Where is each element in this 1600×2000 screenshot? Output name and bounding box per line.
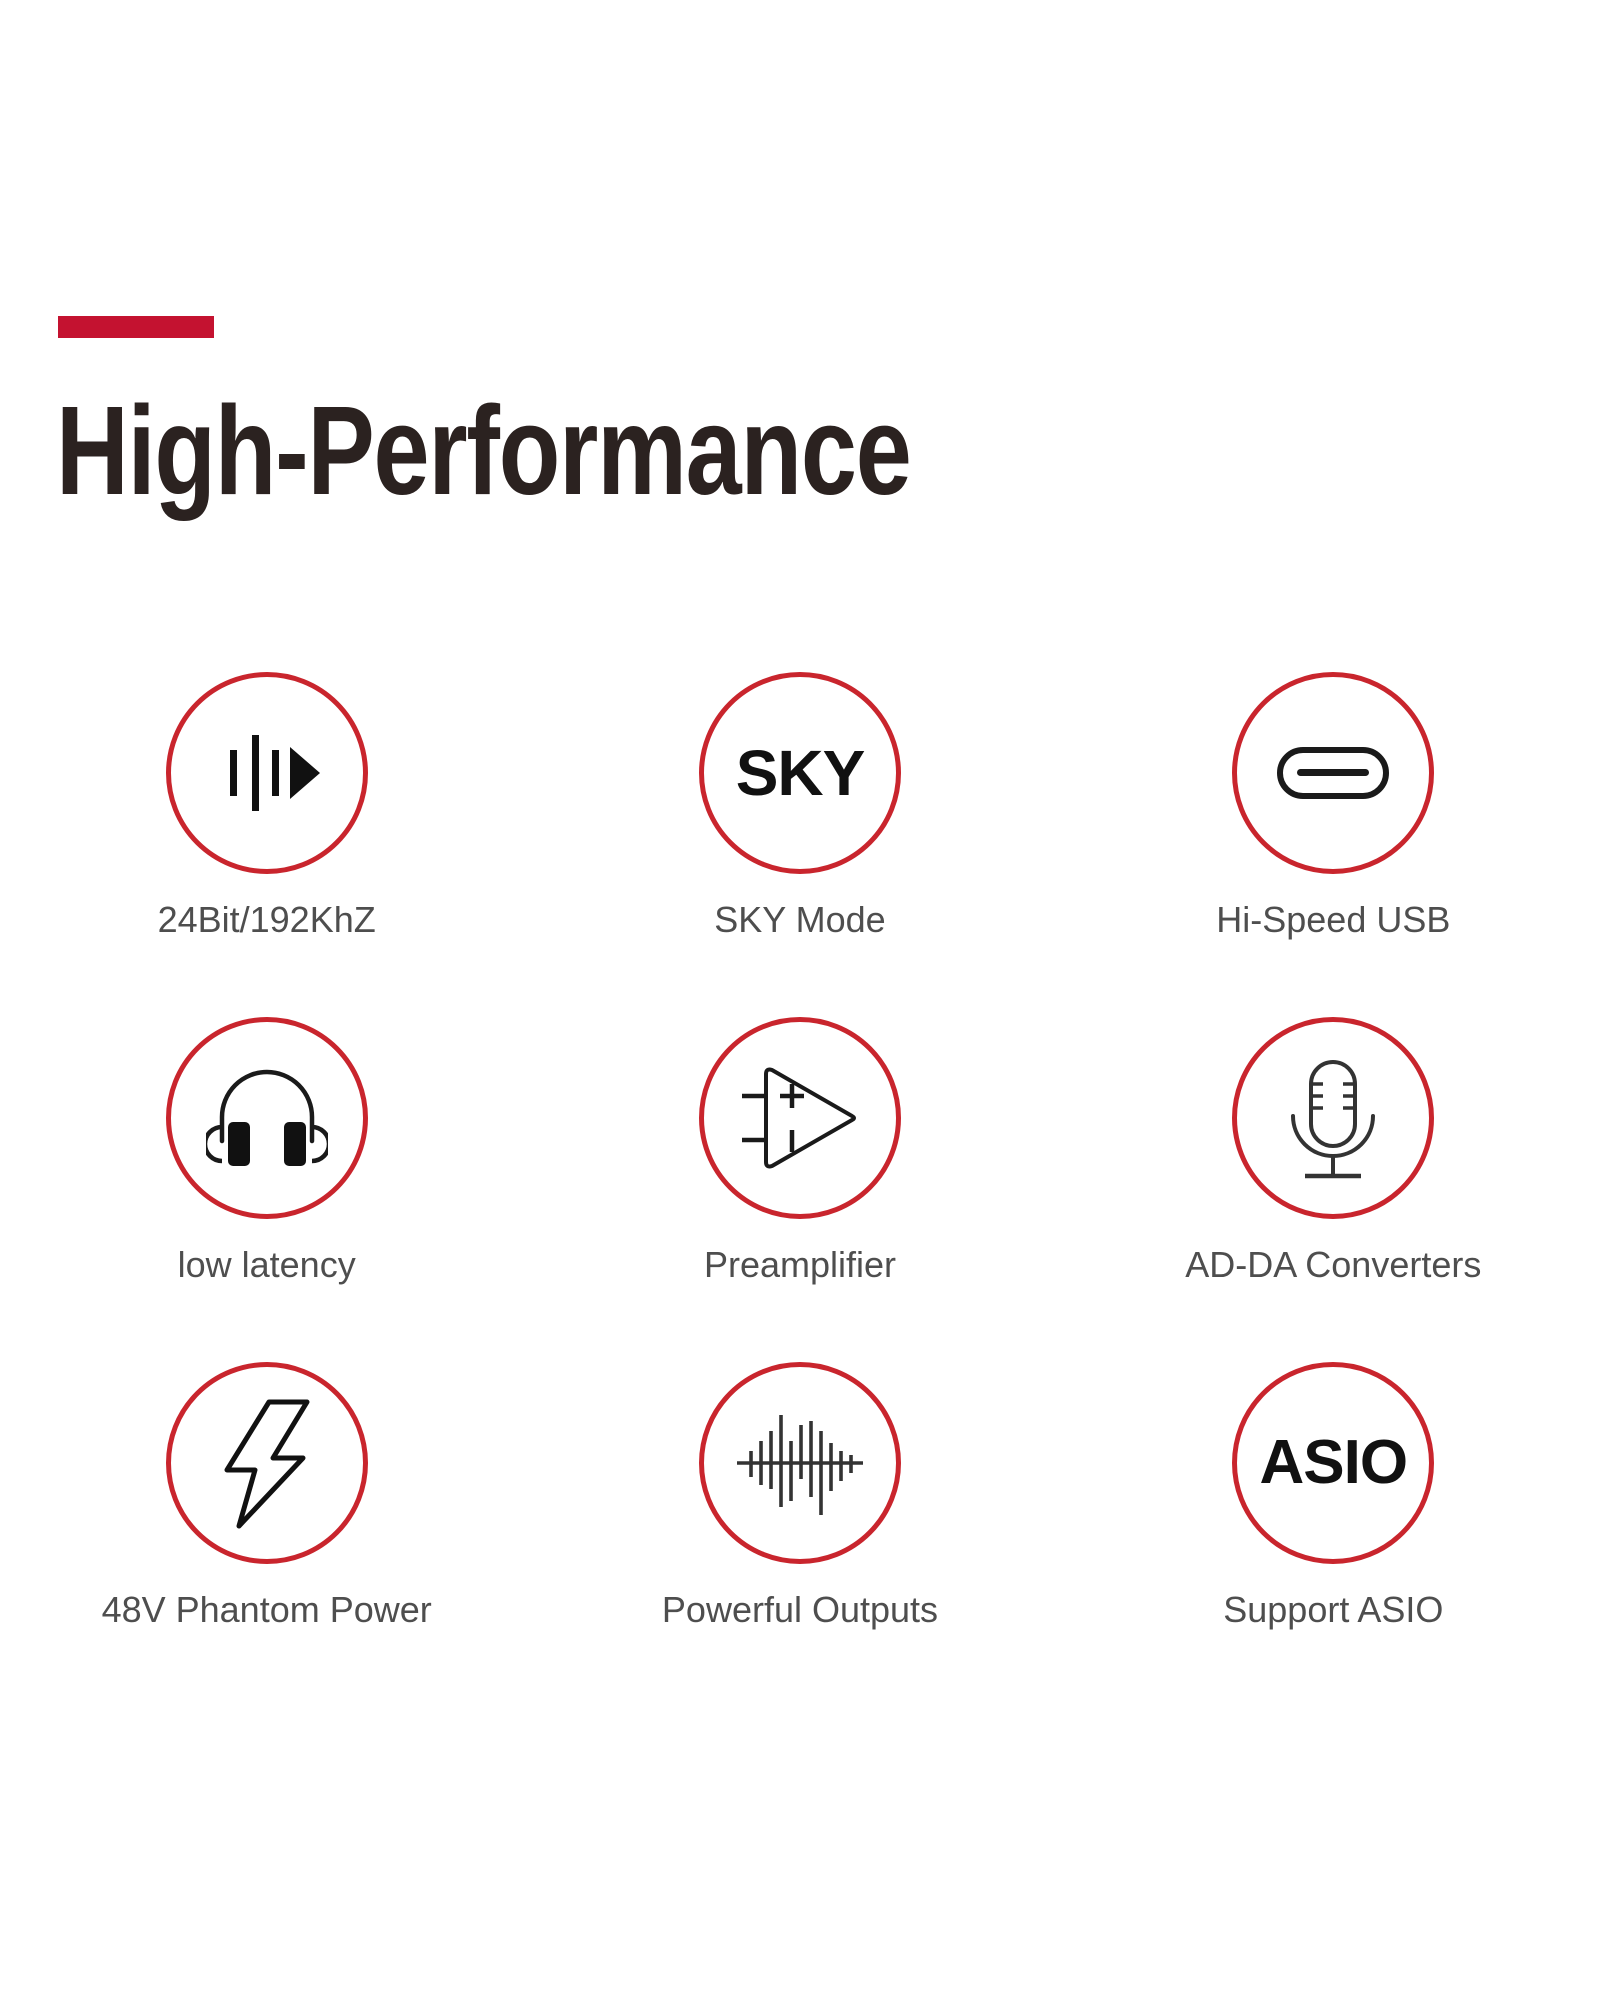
asio-text-glyph: ASIO [1260, 1432, 1408, 1494]
headphones-icon [166, 1017, 368, 1219]
feature-label: low latency [178, 1245, 356, 1285]
page-title: High-Performance [56, 388, 911, 514]
audio-bitrate-icon [166, 672, 368, 874]
lightning-bolt-icon [166, 1362, 368, 1564]
sky-text-glyph: SKY [736, 741, 865, 805]
asio-text-icon: ASIO [1232, 1362, 1434, 1564]
sky-text-icon: SKY [699, 672, 901, 874]
opamp-triangle-icon [699, 1017, 901, 1219]
feature-item-sky-mode: SKY SKY Mode [533, 672, 1066, 1017]
feature-label: SKY Mode [714, 900, 885, 940]
features-grid: 24Bit/192KhZ SKY SKY Mode Hi-Speed USB [0, 672, 1600, 1707]
audio-waveform-icon [699, 1362, 901, 1564]
feature-highlights-page: High-Performance 24Bit/192KhZ SKY SKY Mo… [0, 0, 1600, 2000]
feature-item-bitrate: 24Bit/192KhZ [0, 672, 533, 1017]
feature-item-preamplifier: Preamplifier [533, 1017, 1066, 1362]
feature-label: Powerful Outputs [662, 1590, 938, 1630]
usb-c-port-icon [1232, 672, 1434, 874]
feature-label: AD-DA Converters [1185, 1245, 1481, 1285]
feature-label: 48V Phantom Power [102, 1590, 432, 1630]
feature-item-low-latency: low latency [0, 1017, 533, 1362]
feature-label: Support ASIO [1223, 1590, 1443, 1630]
feature-item-outputs: Powerful Outputs [533, 1362, 1066, 1707]
feature-item-phantom-power: 48V Phantom Power [0, 1362, 533, 1707]
feature-label: Hi-Speed USB [1216, 900, 1450, 940]
feature-label: Preamplifier [704, 1245, 896, 1285]
accent-bar [58, 316, 214, 338]
feature-item-converters: AD-DA Converters [1067, 1017, 1600, 1362]
feature-item-asio: ASIO Support ASIO [1067, 1362, 1600, 1707]
feature-item-usb: Hi-Speed USB [1067, 672, 1600, 1017]
condenser-mic-icon [1232, 1017, 1434, 1219]
feature-label: 24Bit/192KhZ [158, 900, 376, 940]
